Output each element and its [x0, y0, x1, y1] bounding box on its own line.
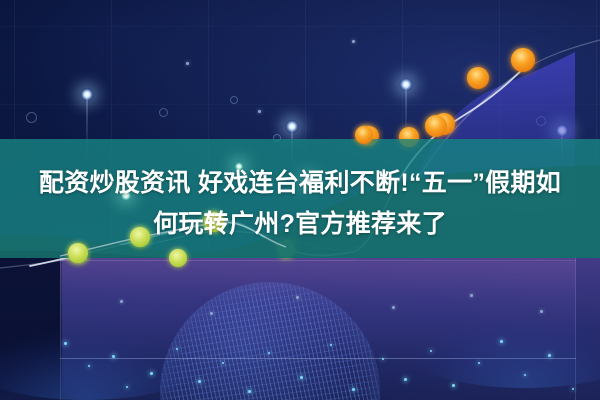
- bubble-ring-2: [159, 108, 168, 117]
- bubble-ring-3: [230, 96, 238, 104]
- headline-line-2: 何玩转广州?官方推荐来了: [8, 204, 592, 245]
- banner-image: 配资炒股资讯 好戏连台福利不断!“五一”假期如 何玩转广州?官方推荐来了: [0, 0, 600, 400]
- bubble-ring-1: [26, 112, 37, 123]
- headline-line-1: 配资炒股资讯 好戏连台福利不断!“五一”假期如: [8, 163, 592, 204]
- page-title: 配资炒股资讯 好戏连台福利不断!“五一”假期如 何玩转广州?官方推荐来了: [0, 163, 600, 245]
- bubble-ring-4: [536, 116, 546, 126]
- panel-top-rule: [60, 260, 576, 261]
